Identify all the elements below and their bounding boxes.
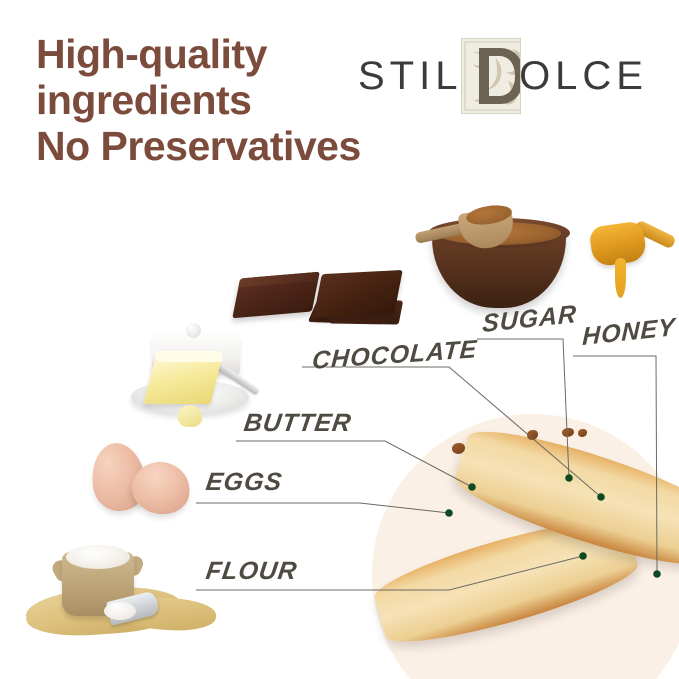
marker-butter — [469, 484, 476, 491]
infographic-canvas: High-quality ingredients No Preservative… — [0, 0, 679, 679]
marker-eggs — [446, 510, 453, 517]
leader-line-sugar — [477, 339, 569, 478]
marker-honey — [654, 571, 661, 578]
marker-chocolate — [598, 494, 605, 501]
marker-flour — [580, 553, 587, 560]
label-butter: BUTTER — [242, 409, 353, 438]
leader-lines — [0, 0, 679, 679]
label-eggs: EGGS — [204, 468, 284, 497]
leader-line-honey — [573, 356, 657, 574]
marker-sugar — [566, 475, 573, 482]
leader-line-eggs — [196, 503, 449, 513]
label-flour: FLOUR — [204, 557, 299, 586]
